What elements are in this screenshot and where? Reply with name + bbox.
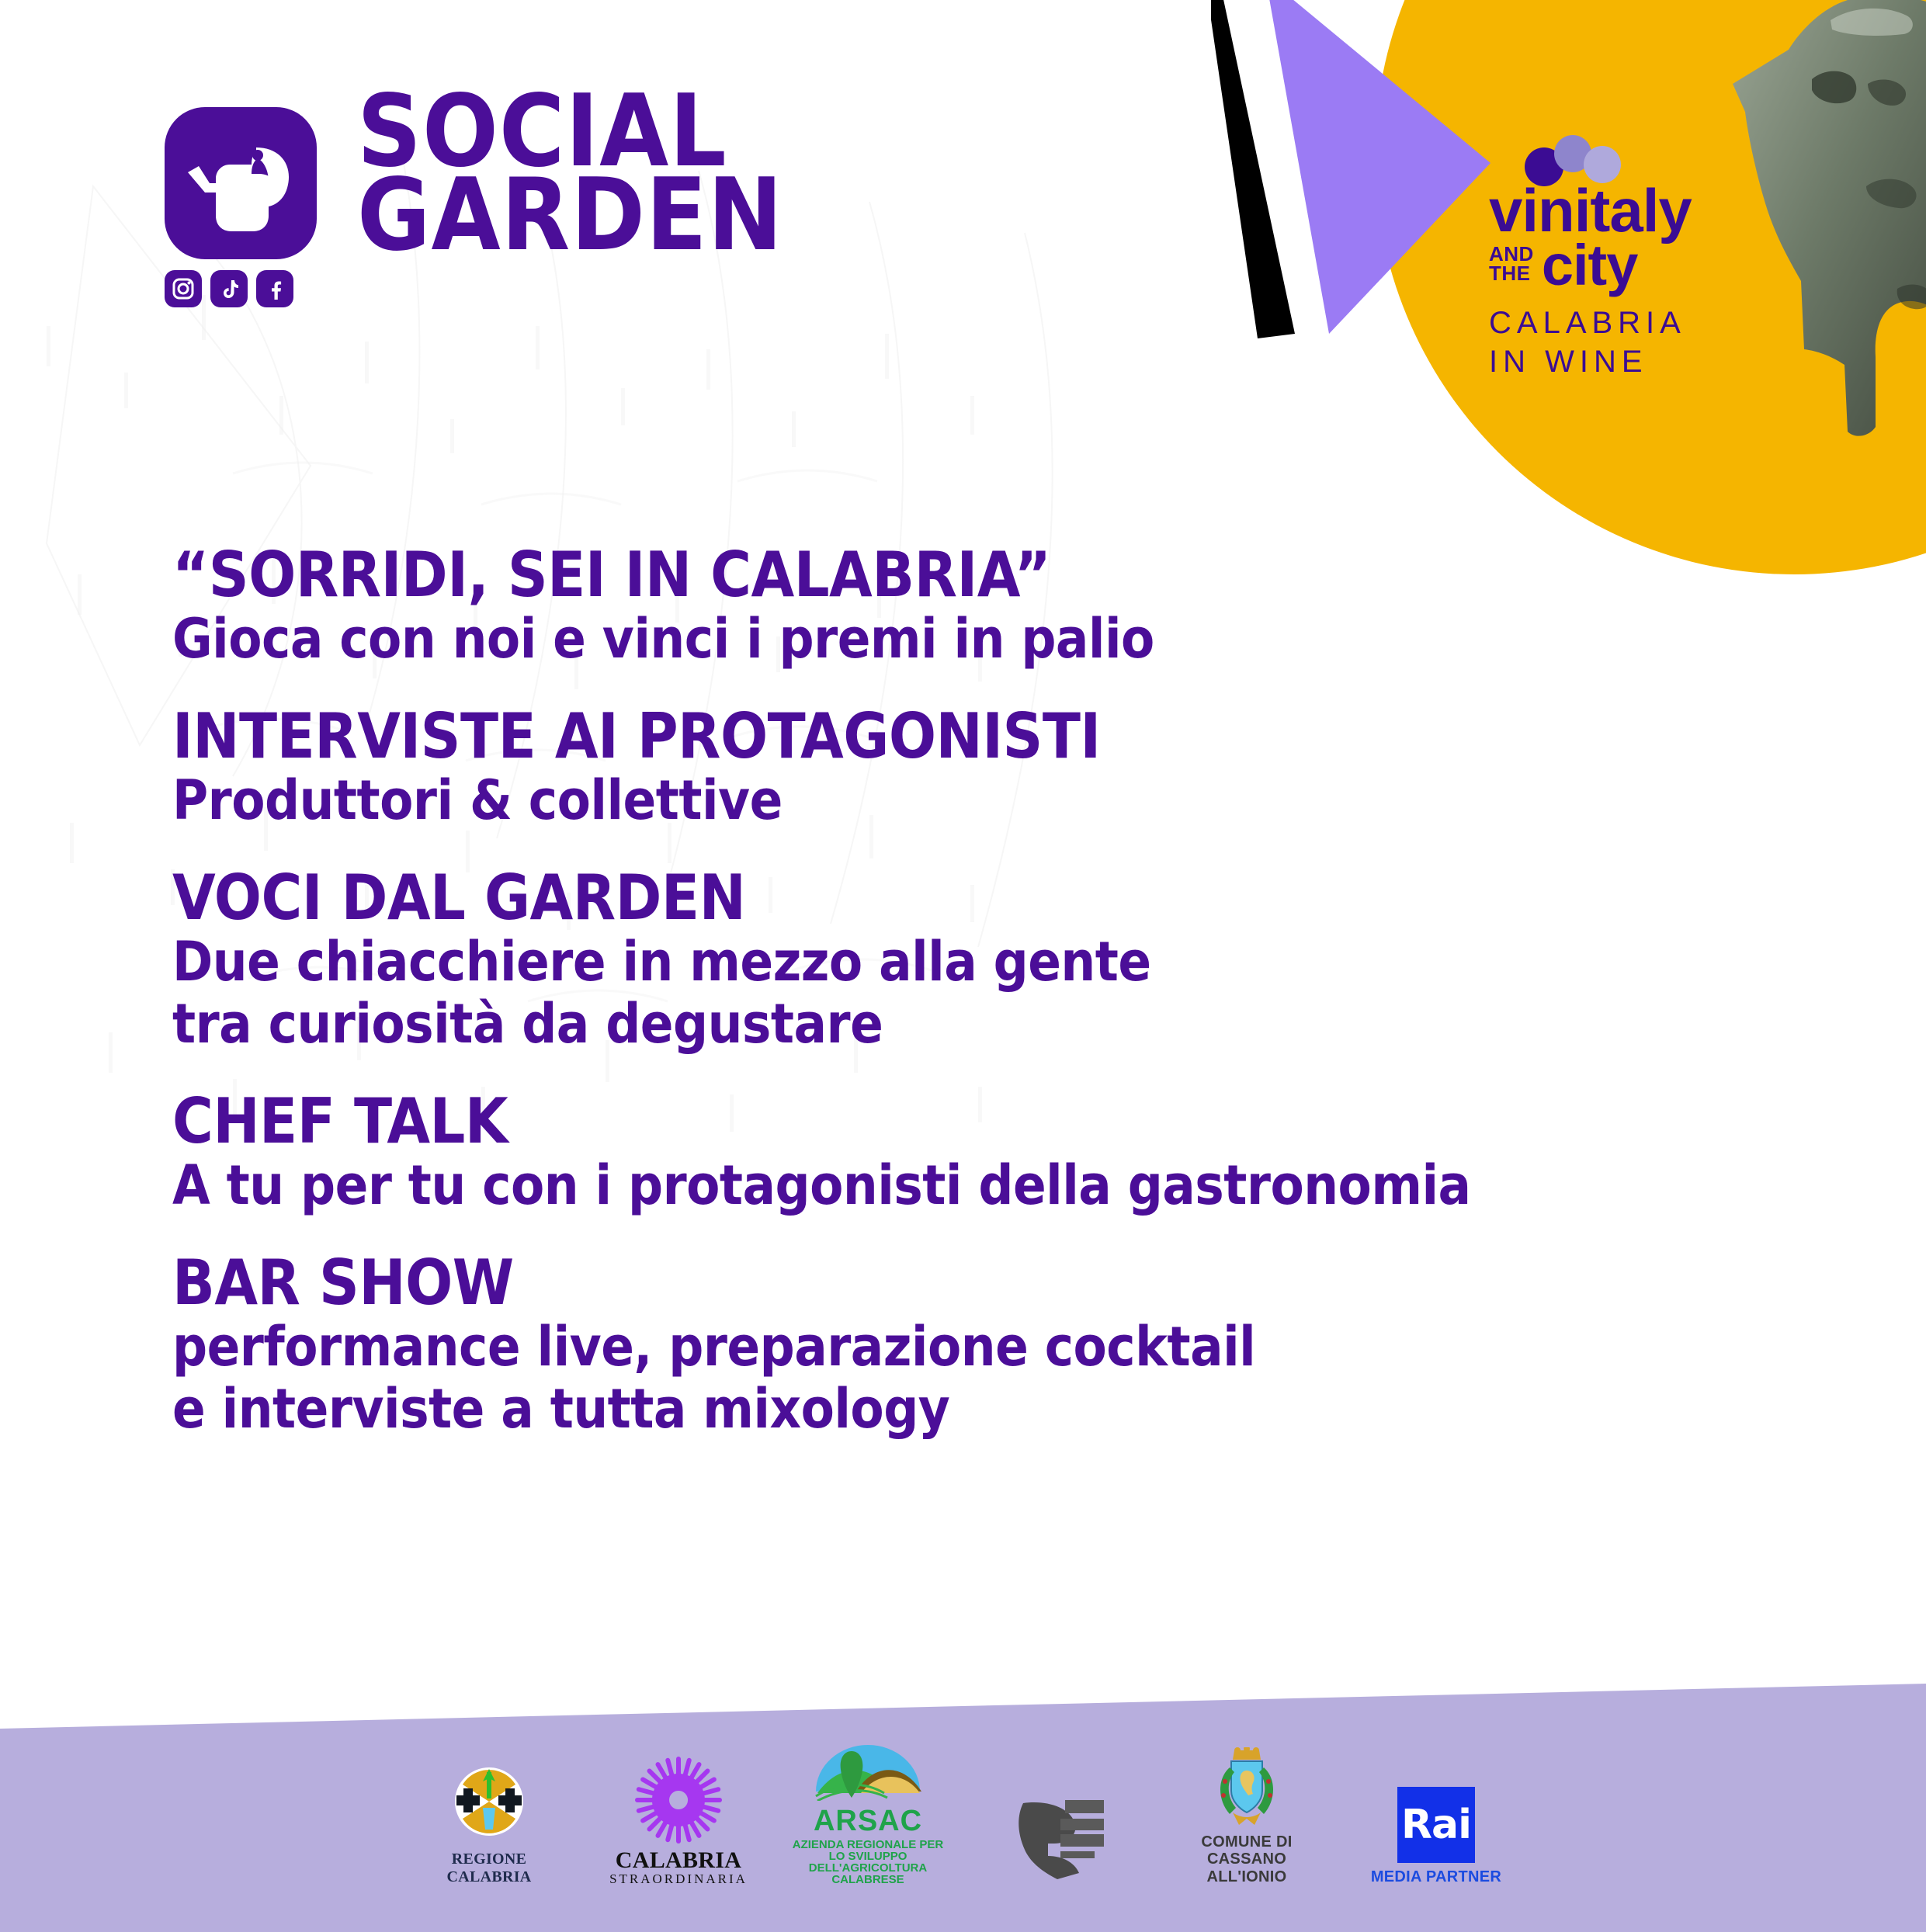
programme-title: BAR SHOW [172, 1251, 1647, 1315]
social-garden-logo: SOCIAL GARDEN [165, 107, 317, 307]
programme-line: A tu per tu con i protagonisti della gas… [172, 1155, 1647, 1216]
partner-mark [980, 1795, 1135, 1885]
programme-item: CHEF TALK A tu per tu con i protagonisti… [172, 1090, 1647, 1216]
programme-title: INTERVISTE AI PROTAGONISTI [172, 705, 1647, 768]
programme-item: “SORRIDI, SEI IN CALABRIA” Gioca con noi… [172, 543, 1647, 669]
calabria-straordinaria-starburst-icon [635, 1757, 722, 1844]
watering-can-icon [165, 107, 317, 259]
tiktok-icon[interactable] [210, 270, 248, 307]
programme-title: VOCI DAL GARDEN [172, 866, 1647, 930]
partner-arsac: ARSAC AZIENDA REGIONALE PER LO SVILUPPOD… [790, 1734, 946, 1885]
comune-cassano-crest-icon [1206, 1747, 1287, 1828]
vinitaly-dots [1525, 130, 1768, 186]
vinitaly-city-wordmark: city [1542, 241, 1638, 290]
regione-calabria-crest-icon [449, 1764, 529, 1845]
partner-mark-icon [1011, 1795, 1104, 1885]
partner-caption: MEDIA PARTNER [1371, 1868, 1501, 1885]
arsac-landscape-icon [810, 1734, 926, 1801]
partner-regione-calabria: REGIONECALABRIA [411, 1764, 567, 1885]
social-garden-line2: GARDEN [357, 174, 783, 258]
poster-root: vinitaly AND THE city CALABRIA IN WINE [0, 0, 1926, 1932]
programme-line: Produttori & collettive [172, 770, 1647, 831]
vinitaly-the-label: THE [1489, 264, 1534, 283]
social-garden-wordmark: SOCIAL GARDEN [357, 90, 783, 257]
programme-line: e interviste a tutta mixology [172, 1379, 1647, 1439]
programme-item: BAR SHOW performance live, preparazione … [172, 1251, 1647, 1439]
vinitaly-subtitle-in-wine: IN WINE [1489, 342, 1768, 381]
vinitaly-and-the: AND THE [1489, 245, 1534, 290]
partner-rai: Rai MEDIA PARTNER [1359, 1787, 1514, 1885]
instagram-icon[interactable] [165, 270, 202, 307]
partner-caption: REGIONECALABRIA [446, 1850, 531, 1885]
social-icons-row[interactable] [165, 270, 317, 307]
partner-caption: ARSAC AZIENDA REGIONALE PER LO SVILUPPOD… [790, 1806, 946, 1885]
programme-line: performance live, preparazione cocktail [172, 1316, 1647, 1377]
partner-caption: COMUNE DICASSANO ALL'IONIO [1169, 1833, 1324, 1885]
partner-calabria-straordinaria: CALABRIA STRAORDINARIA [601, 1757, 756, 1885]
programme-title: “SORRIDI, SEI IN CALABRIA” [172, 543, 1647, 607]
programme-line: Gioca con noi e vinci i premi in palio [172, 609, 1647, 669]
vinitaly-wordmark: vinitaly [1489, 183, 1768, 239]
partner-caption: CALABRIA STRAORDINARIA [609, 1849, 748, 1885]
programme-line: tra curiosità da degustare [172, 994, 1647, 1054]
programme-item: INTERVISTE AI PROTAGONISTI Produttori & … [172, 705, 1647, 831]
partner-comune-cassano: COMUNE DICASSANO ALL'IONIO [1169, 1747, 1324, 1885]
rai-logo-icon: Rai [1397, 1787, 1475, 1863]
programme-item: VOCI DAL GARDEN Due chiacchiere in mezzo… [172, 866, 1647, 1054]
vinitaly-and-the-city-logo: vinitaly AND THE city CALABRIA IN WINE [1489, 130, 1768, 381]
vinitaly-subtitle-calabria: CALABRIA [1489, 304, 1768, 342]
facebook-icon[interactable] [256, 270, 293, 307]
vinitaly-dot-3 [1584, 146, 1621, 183]
partner-logos: REGIONECALABRIA [411, 1734, 1514, 1885]
programme-list: “SORRIDI, SEI IN CALABRIA” Gioca con noi… [172, 543, 1647, 1476]
programme-title: CHEF TALK [172, 1090, 1647, 1153]
programme-line: Due chiacchiere in mezzo alla gente [172, 931, 1647, 992]
